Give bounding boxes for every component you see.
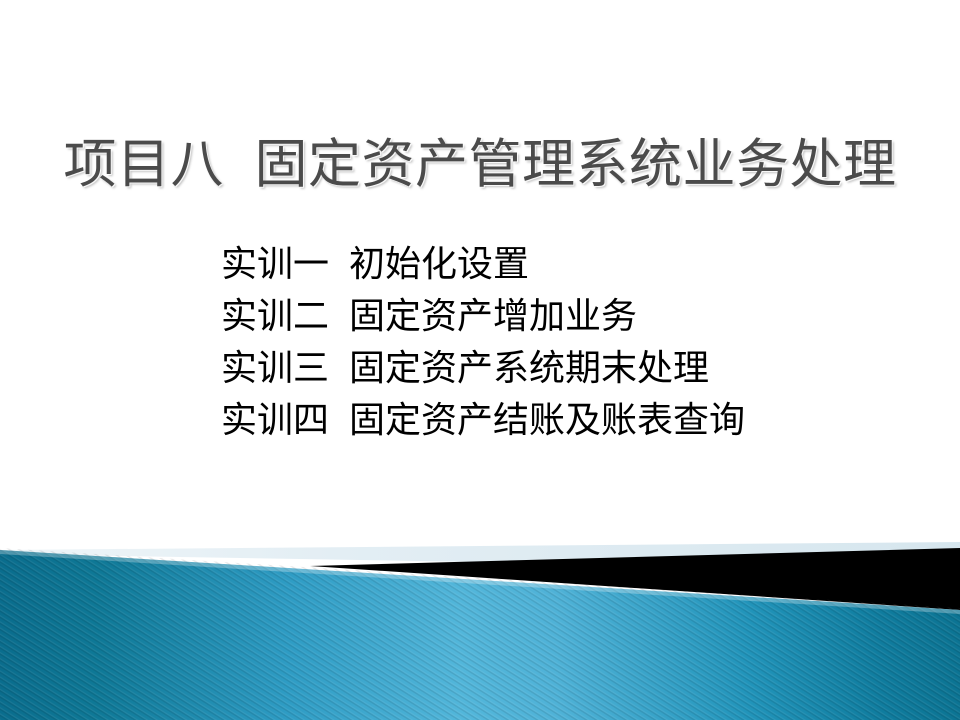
- list-item: 实训四 固定资产结账及账表查询: [221, 394, 921, 446]
- title-placeholder: 项目八 固定资产管理系统业务处理: [0, 132, 960, 198]
- striped-teal-band: [0, 520, 960, 720]
- slide-canvas: 项目八 固定资产管理系统业务处理 实训一 初始化设置 实训二 固定资产增加业务 …: [0, 0, 960, 720]
- page-title: 项目八 固定资产管理系统业务处理: [64, 132, 897, 198]
- footer-decoration-svg: [0, 520, 960, 720]
- body-placeholder: 实训一 初始化设置 实训二 固定资产增加业务 实训三 固定资产系统期末处理 实训…: [221, 238, 921, 446]
- list-item: 实训一 初始化设置: [221, 238, 921, 290]
- band-top-highlight: [0, 550, 960, 614]
- footer-decoration-graphic: [0, 520, 960, 720]
- list-item: 实训二 固定资产增加业务: [221, 290, 921, 342]
- list-item: 实训三 固定资产系统期末处理: [221, 342, 921, 394]
- pale-blue-wedge: [0, 542, 960, 570]
- black-wedge: [310, 548, 960, 610]
